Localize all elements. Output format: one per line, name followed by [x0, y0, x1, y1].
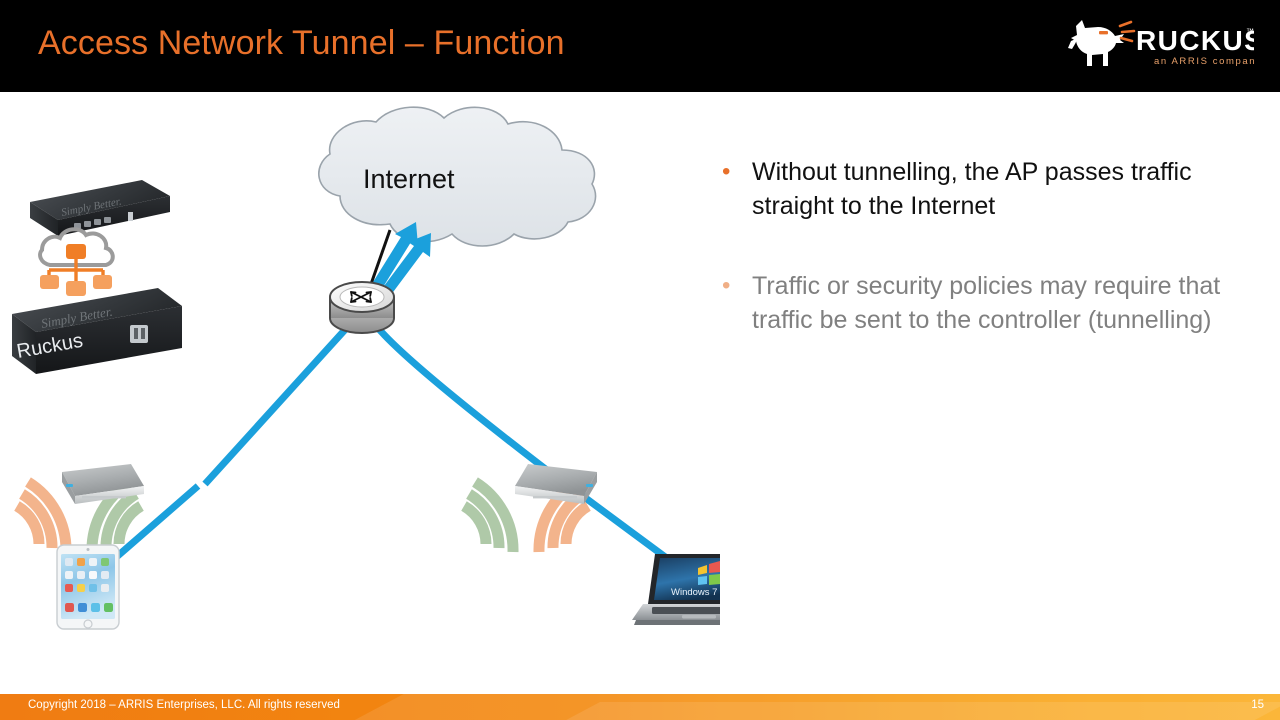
bullet-text-1: Without tunnelling, the AP passes traffi…: [752, 155, 1262, 223]
wifi-arcs-right-green: [464, 482, 513, 552]
dog-collar-icon: [1099, 31, 1108, 34]
access-point-right: [464, 464, 597, 552]
ruckus-logo: RUCKUS ™ an ARRIS company: [1058, 14, 1254, 78]
appliance-top-led: [128, 212, 133, 221]
ruckus-dog-icon: [1068, 20, 1124, 66]
cloud-node-mid: [66, 281, 86, 296]
slide-header: Access Network Tunnel – Function RUCKUS: [0, 0, 1280, 92]
laptop-keyboard: [652, 607, 720, 614]
bark-lines-icon: [1120, 22, 1134, 41]
bullet-list: • Without tunnelling, the AP passes traf…: [722, 155, 1262, 337]
footer-swoosh-2: [487, 702, 1280, 720]
access-point-right-body: [515, 464, 597, 504]
bullet-marker-1: •: [722, 155, 752, 189]
link-router-to-left-ap: [205, 322, 352, 484]
bullet-text-2: Traffic or security policies may require…: [752, 269, 1262, 337]
copyright-text: Copyright 2018 – ARRIS Enterprises, LLC.…: [28, 699, 340, 711]
bullet-marker-2: •: [722, 269, 752, 303]
slide-footer: Copyright 2018 – ARRIS Enterprises, LLC.…: [0, 694, 1280, 720]
appliance-bottom-panel: [130, 325, 148, 343]
page-number: 15: [1251, 699, 1264, 711]
link-right-ap-to-laptop: [572, 488, 672, 562]
cloud-network-icon: [40, 229, 113, 296]
slide-root: Access Network Tunnel – Function RUCKUS: [0, 0, 1280, 720]
internet-cloud: Internet: [319, 107, 596, 246]
controller-appliance-top: Simply Better.: [30, 180, 170, 236]
ruckus-logo-svg: RUCKUS ™ an ARRIS company: [1058, 14, 1254, 78]
logo-wordmark: RUCKUS: [1136, 25, 1254, 56]
page-title: Access Network Tunnel – Function: [38, 24, 565, 63]
cloud-node-right: [93, 275, 112, 289]
tablet-client: [57, 545, 119, 629]
logo-trademark: ™: [1246, 27, 1254, 36]
access-point-left: [17, 447, 144, 552]
bullet-item-2: • Traffic or security policies may requi…: [722, 269, 1262, 337]
bullet-item-1: • Without tunnelling, the AP passes traf…: [722, 155, 1262, 223]
router-node: [330, 282, 394, 333]
network-diagram-svg: Internet: [0, 92, 720, 680]
cloud-node-center: [66, 244, 86, 259]
laptop-client: Windows 7: [632, 554, 720, 625]
logo-tagline: an ARRIS company: [1154, 56, 1254, 67]
cloud-node-left: [40, 275, 59, 289]
controller-appliance-bottom: Simply Better. Ruckus: [12, 288, 182, 374]
cloud-label: Internet: [363, 164, 455, 194]
laptop-trackpad: [682, 615, 716, 619]
network-diagram: Internet: [0, 92, 720, 680]
laptop-os-label: Windows 7: [671, 587, 717, 598]
link-router-to-right-ap: [372, 320, 565, 484]
